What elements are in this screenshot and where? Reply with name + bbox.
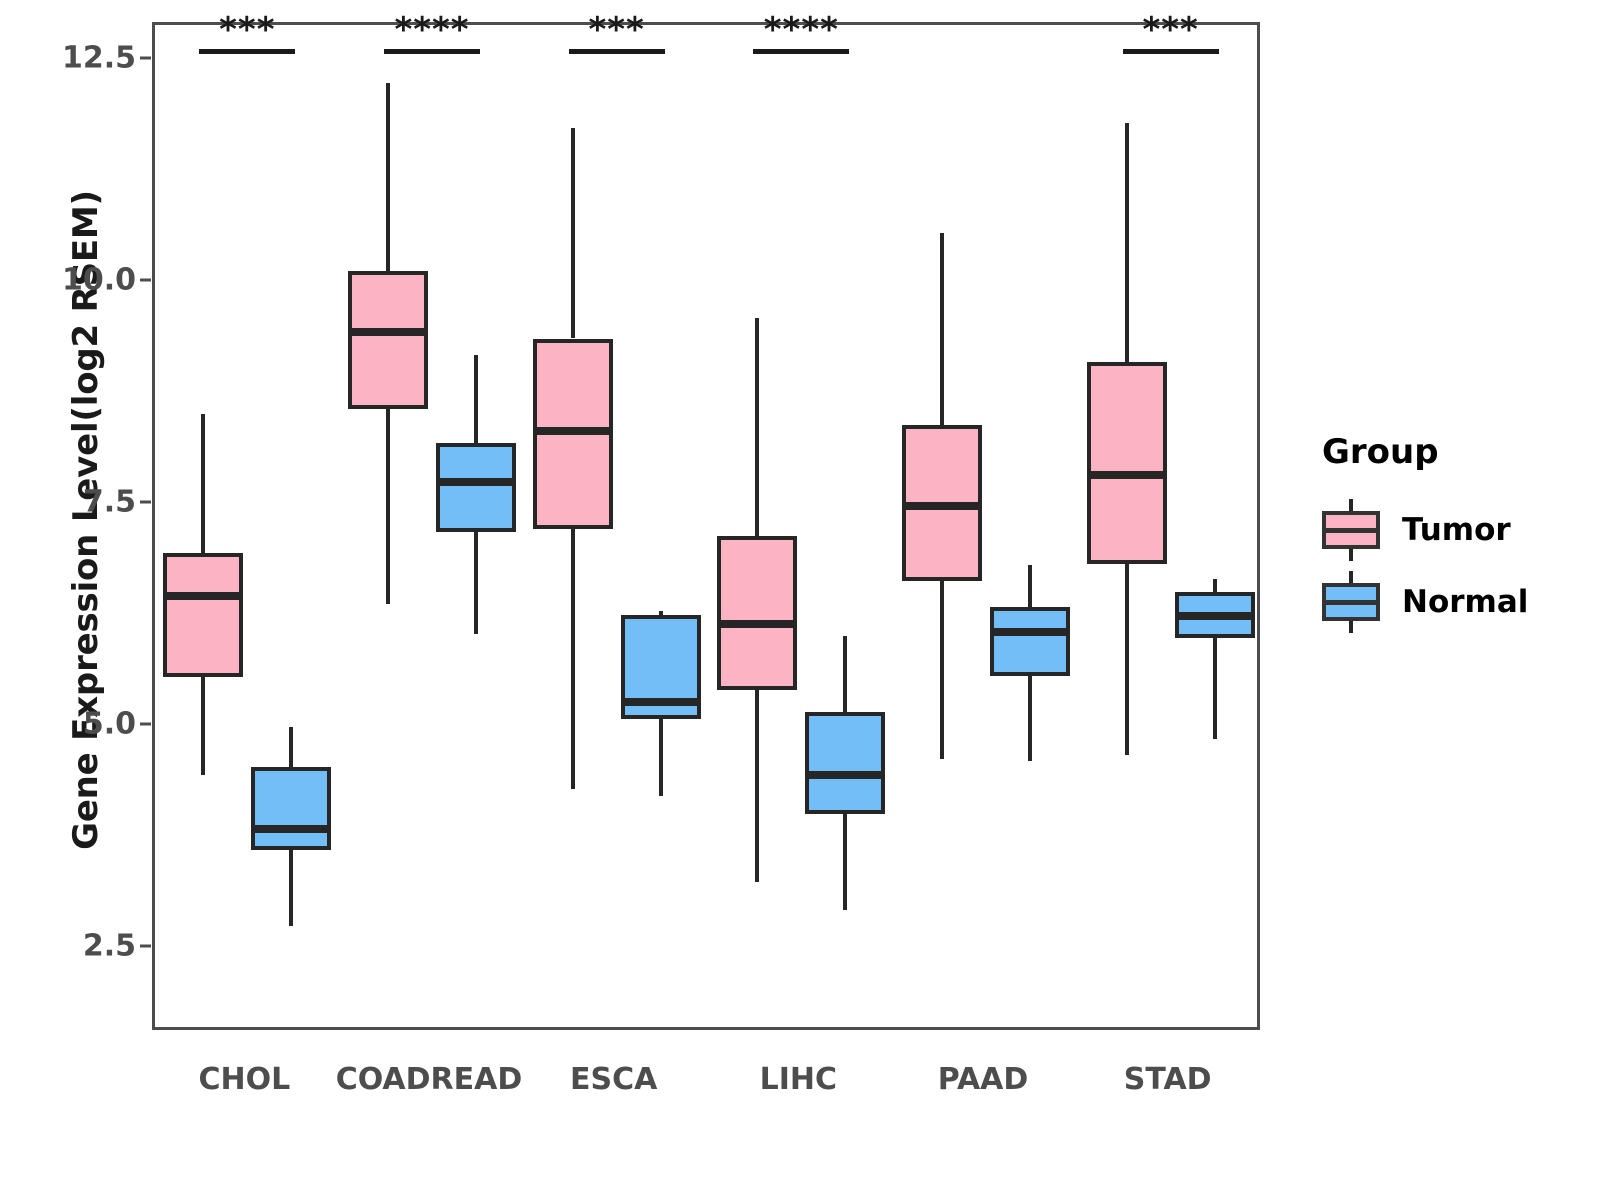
y-tick-label: 7.5 [62,484,136,519]
whisker-upper [1125,123,1129,362]
whisker-lower [1028,676,1032,761]
significance-label: *** [1142,13,1198,47]
x-tick-label: PAAD [938,1062,1029,1097]
whisker-upper [1213,579,1217,591]
median-line [348,328,428,336]
whisker-lower [843,814,847,910]
legend-whisker-bottom [1349,547,1353,561]
median-line [902,502,982,510]
chart-page: Gene Expression Level(log2 RSEM) 2.55.07… [0,0,1600,1200]
y-tick-label: 2.5 [62,928,136,963]
legend-whisker-bottom [1349,619,1353,633]
whisker-lower [386,409,390,604]
legend-item-tumor[interactable]: Tumor [1322,494,1582,566]
legend-median [1323,600,1379,605]
significance-label: *** [588,13,644,47]
box-iqr [348,271,428,409]
median-line [1175,612,1255,620]
whisker-lower [474,532,478,634]
whisker-upper [289,727,293,768]
whisker-lower [1125,564,1129,755]
whisker-lower [940,581,944,760]
whisker-upper [201,414,205,553]
median-line [533,427,613,435]
plot-panel: ***************** [152,22,1260,1030]
whisker-upper [571,128,575,338]
whisker-lower [289,850,293,926]
legend-key-swatch [1322,571,1380,633]
box-iqr [163,553,243,677]
legend-title: Group [1322,432,1582,472]
whisker-lower [571,529,575,789]
whisker-lower [755,690,759,882]
x-tick-label: STAD [1124,1062,1212,1097]
median-line [436,478,516,486]
whisker-upper [843,636,847,712]
box-iqr [436,443,516,532]
y-axis-title: Gene Expression Level(log2 RSEM) [56,0,116,1040]
median-line [990,628,1070,636]
median-line [717,620,797,628]
legend: Group TumorNormal [1322,432,1582,638]
y-tick-mark [140,278,151,281]
box-iqr [251,767,331,850]
box-iqr [990,607,1070,676]
median-line [805,771,885,779]
legend-entries: TumorNormal [1322,494,1582,638]
x-tick-label: COADREAD [336,1062,523,1097]
whisker-lower [659,719,663,795]
whisker-lower [201,677,205,776]
box-iqr [717,536,797,691]
y-tick-mark [140,56,151,59]
y-tick-label: 10.0 [62,262,136,297]
box-iqr [1087,362,1167,564]
legend-median [1323,528,1379,533]
significance-label: **** [764,13,839,47]
x-tick-label: LIHC [760,1062,837,1097]
whisker-upper [474,355,478,443]
legend-label: Normal [1402,584,1528,620]
median-line [621,698,701,706]
whisker-upper [755,318,759,536]
median-line [251,825,331,833]
y-tick-mark [140,722,151,725]
y-tick-mark [140,944,151,947]
y-tick-label: 5.0 [62,706,136,741]
whisker-upper [386,83,390,271]
whisker-upper [1028,565,1032,607]
plot-area: ***************** [155,25,1257,1027]
y-tick-label: 12.5 [62,40,136,75]
box-iqr [805,712,885,813]
significance-label: **** [394,13,469,47]
legend-key-swatch [1322,499,1380,561]
y-tick-mark [140,500,151,503]
x-tick-label: ESCA [570,1062,657,1097]
whisker-upper [940,233,944,425]
legend-label: Tumor [1402,512,1511,548]
whisker-lower [1213,638,1217,739]
significance-label: *** [219,13,275,47]
x-tick-label: CHOL [198,1062,290,1097]
median-line [163,592,243,600]
legend-item-normal[interactable]: Normal [1322,566,1582,638]
median-line [1087,471,1167,479]
